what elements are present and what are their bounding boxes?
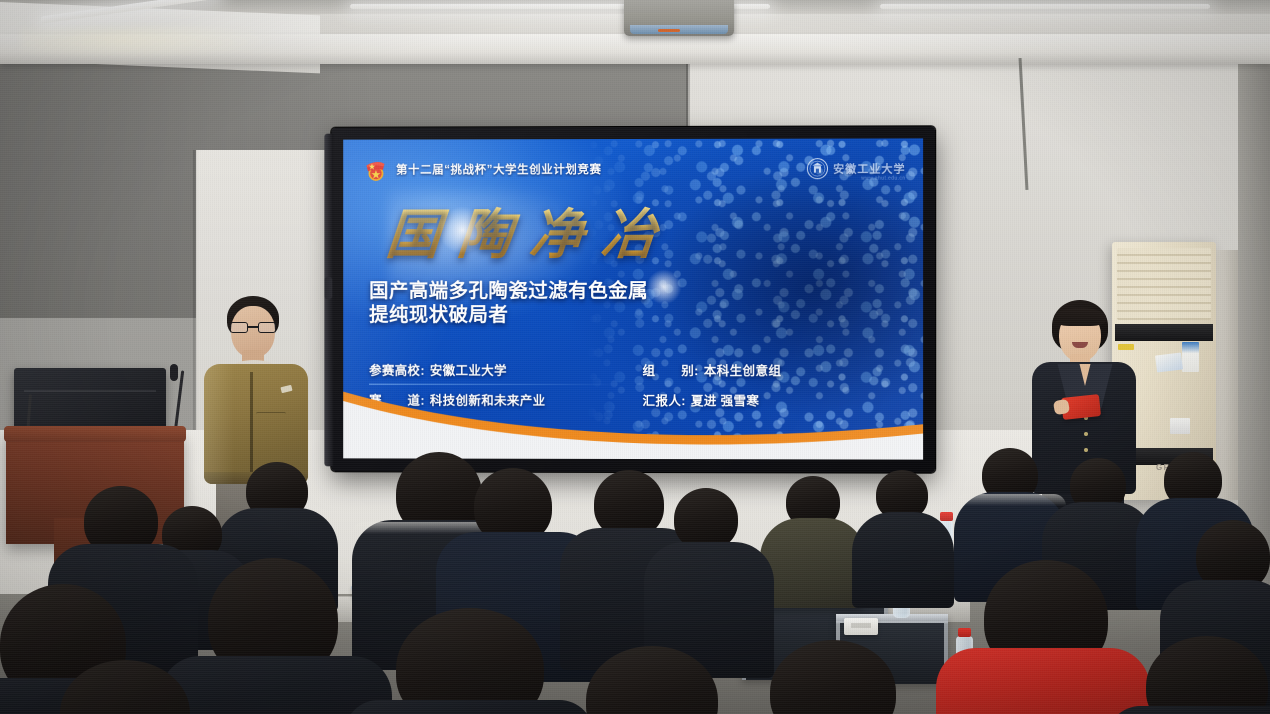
gooseneck-microphone-head — [170, 364, 178, 381]
communist-youth-league-emblem — [363, 157, 389, 181]
competition-title: 第十二届“挑战杯”大学生创业计划竞赛 — [396, 161, 602, 177]
presenter-right-fringe — [1054, 308, 1106, 326]
meta-group: 组 别: 本科生创意组 — [643, 360, 782, 379]
white-box-on-desk — [844, 618, 878, 635]
university-seal — [806, 157, 828, 179]
ac-model-sticker — [1155, 352, 1183, 372]
jacket-tag — [280, 385, 292, 393]
tv-screen: 第十二届“挑战杯”大学生创业计划竞赛 安徽工业大 — [343, 138, 923, 459]
lectern-top-surface — [4, 426, 186, 442]
meta-school: 参赛高校: 安徽工业大学 — [369, 360, 642, 379]
slide-footer-wave — [343, 391, 923, 459]
jacket-pocket — [256, 412, 286, 425]
blazer-button-2 — [1084, 432, 1088, 436]
meta-group-label: 组 别: — [643, 360, 699, 379]
university-url: www.ahut.edu.cn — [861, 175, 905, 181]
meta-school-label: 参赛高校: — [369, 360, 425, 379]
wave-graphic — [343, 391, 923, 459]
competition-branding: 第十二届“挑战杯”大学生创业计划竞赛 — [363, 157, 601, 181]
eyeglasses-icon — [230, 322, 276, 333]
meta-group-value: 本科生创意组 — [704, 360, 782, 379]
meta-row-1: 参赛高校: 安徽工业大学 组 别: 本科生创意组 — [369, 360, 897, 380]
projector-indicator-led — [658, 29, 680, 32]
subtitle-line-1: 国产高端多孔陶瓷过滤有色金属 — [369, 280, 798, 304]
presentation-room-photo: 第十二届“挑战杯”大学生创业计划竞赛 安徽工业大 — [0, 0, 1270, 714]
slide-header: 第十二届“挑战杯”大学生创业计划竞赛 安徽工业大 — [363, 151, 905, 186]
ac-energy-label — [1182, 342, 1199, 372]
ceiling-light-3 — [880, 4, 1210, 9]
air-conditioner-side — [1216, 250, 1238, 500]
slide-subtitle: 国产高端多孔陶瓷过滤有色金属 提纯现状破局者 — [369, 280, 798, 328]
slide-main-title: 国陶净冶 — [383, 190, 677, 269]
tv-side-button[interactable] — [324, 277, 332, 299]
blazer-button-3 — [1084, 448, 1088, 452]
ac-spec-sticker — [1170, 418, 1190, 434]
meta-divider — [369, 383, 621, 384]
university-name: 安徽工业大学 — [833, 160, 905, 176]
ceiling-projector — [624, 0, 734, 36]
meta-school-value: 安徽工业大学 — [430, 360, 507, 379]
tv-left-edge — [324, 134, 333, 467]
ceiling-light-glow — [20, 26, 280, 60]
subtitle-line-2: 提纯现状破局者 — [369, 304, 798, 328]
presentation-slide: 第十二届“挑战杯”大学生创业计划竞赛 安徽工业大 — [343, 138, 923, 459]
wall-mounted-television[interactable]: 第十二届“挑战杯”大学生创业计划竞赛 安徽工业大 — [331, 126, 935, 472]
